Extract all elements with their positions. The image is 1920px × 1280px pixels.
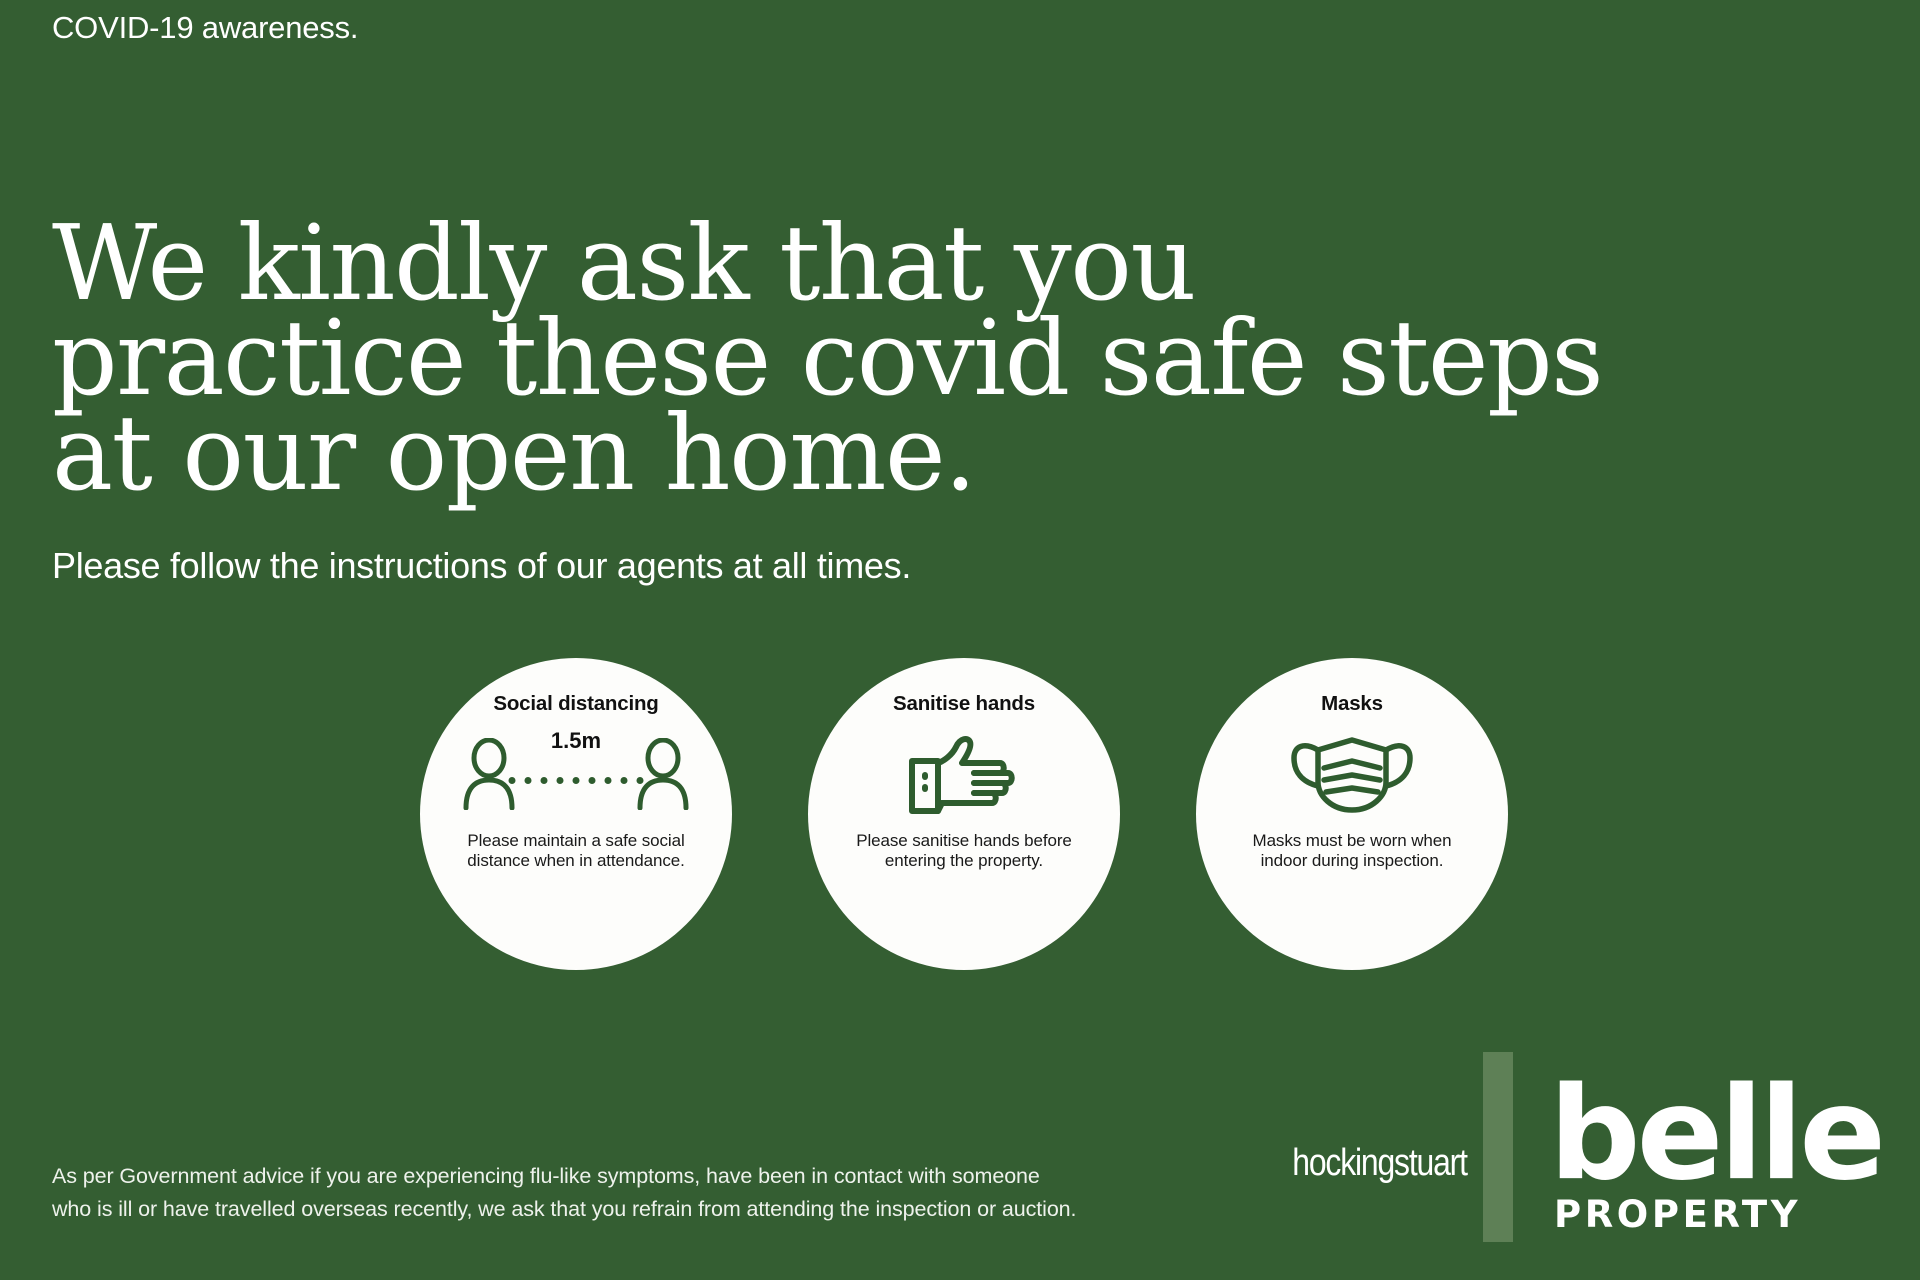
covid-awareness-poster: COVID-19 awareness. We kindly ask that y… — [0, 0, 1920, 1280]
headline-line-3: at our open home. — [52, 406, 1727, 501]
logo-divider-bar — [1483, 1052, 1513, 1242]
belle-wordmark: belle — [1549, 1083, 1882, 1187]
covid-steps-group: Social distancing 1.5m — [420, 658, 1510, 970]
card-sanitise-hands: Sanitise hands Please sanitise hands — [808, 658, 1120, 970]
subheading: Please follow the instructions of our ag… — [52, 545, 911, 587]
hockingstuart-logo: hockingstuart — [1292, 1142, 1467, 1185]
card-title: Sanitise hands — [893, 694, 1035, 715]
page-title: We kindly ask that you practice these co… — [52, 216, 1752, 501]
belle-property-logo: belle PROPERTY — [1549, 1083, 1882, 1236]
social-distancing-icon: 1.5m — [460, 729, 692, 819]
card-social-distancing: Social distancing 1.5m — [420, 658, 732, 970]
card-title: Social distancing — [493, 694, 658, 715]
card-caption: Masks must be worn when indoor during in… — [1237, 831, 1467, 872]
hand-sanitise-icon — [904, 729, 1024, 819]
eyebrow-label: COVID-19 awareness. — [52, 10, 358, 46]
distance-label: 1.5m — [460, 728, 692, 754]
card-caption: Please sanitise hands before entering th… — [849, 831, 1079, 872]
belle-property-subtext: PROPERTY — [1554, 1193, 1801, 1236]
government-advice-disclaimer: As per Government advice if you are expe… — [52, 1160, 1082, 1226]
card-title: Masks — [1321, 694, 1383, 715]
card-caption: Please maintain a safe social distance w… — [461, 831, 691, 872]
distance-dotted-line — [509, 777, 644, 784]
face-mask-icon — [1288, 729, 1416, 819]
card-masks: Masks Masks must be worn when indoor dur… — [1196, 658, 1508, 970]
brand-lockup: hockingstuart belle PROPERTY — [1259, 1052, 1882, 1242]
